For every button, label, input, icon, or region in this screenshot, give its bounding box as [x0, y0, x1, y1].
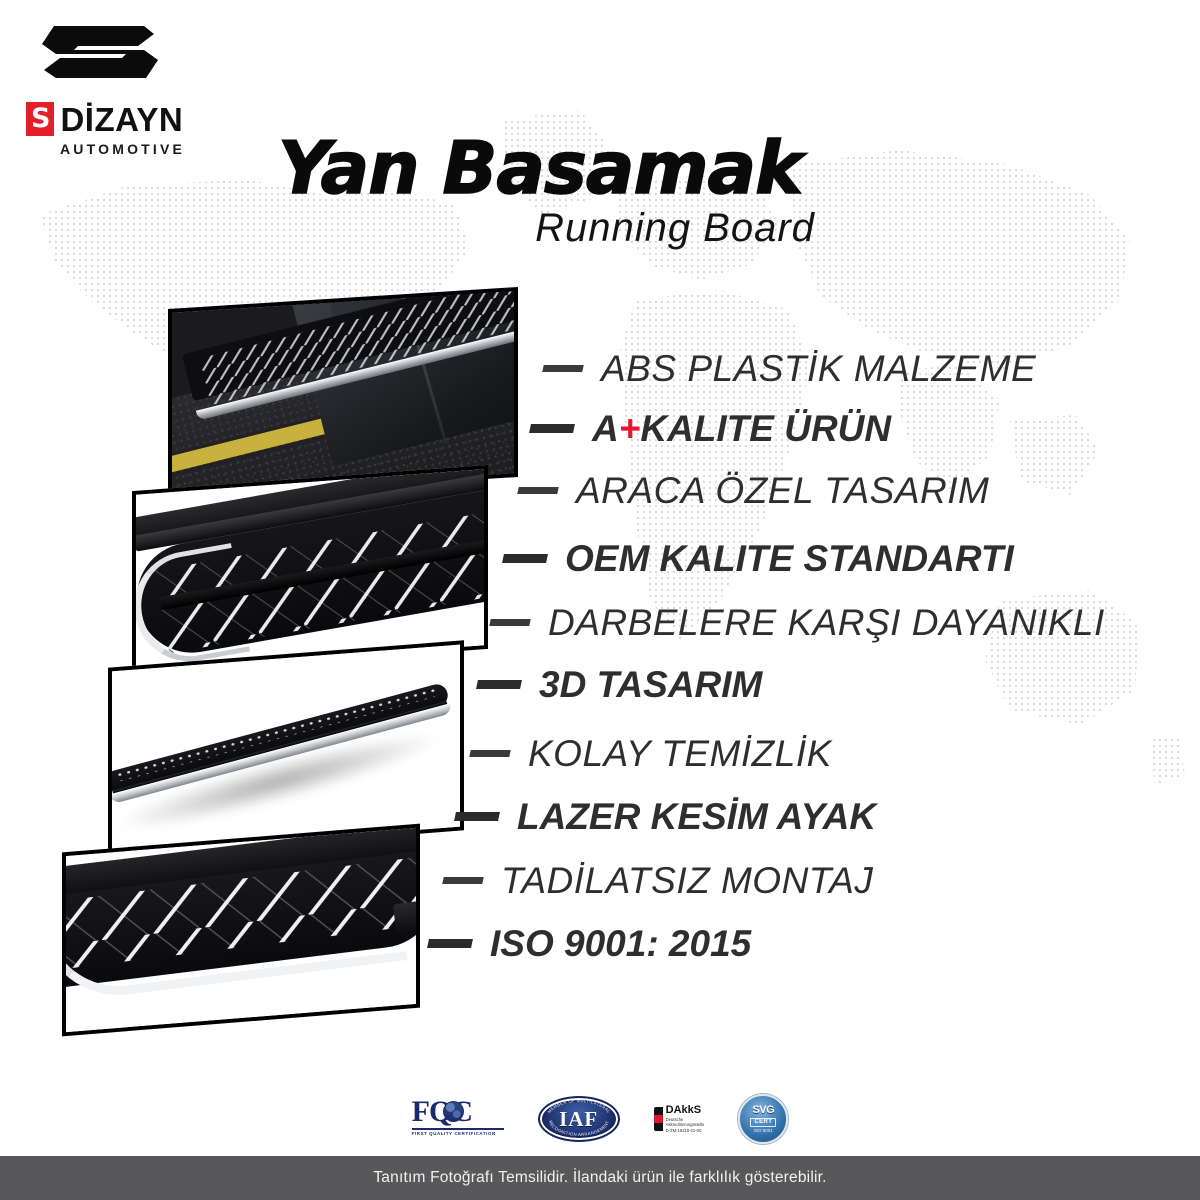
german-flag-icon [654, 1107, 663, 1131]
disclaimer-text: Tanıtım Fotoğrafı Temsilidir. İlandaki ü… [373, 1169, 826, 1187]
bullet-dash-icon [517, 487, 558, 494]
tuv-cert-label: CERT [750, 1118, 776, 1127]
tuv-standard-label: ISO 9001 [754, 1129, 773, 1134]
fqc-logo: FQC FIRST QUALITY CERTIFICATION [412, 1097, 504, 1141]
feature-label: LAZER KESİM AYAK [517, 798, 876, 835]
feature-plus-highlight: + [619, 410, 641, 447]
bullet-dash-icon [476, 680, 522, 689]
feature-label: 3D TASARIM [539, 666, 762, 703]
dakks-logo: DAkkS Deutsche Akkreditierungsstelle D-Z… [654, 1104, 705, 1133]
iaf-arc-text: MEMBER OF MULTILATERAL RECOGNITION ARRAN… [540, 1098, 618, 1140]
cert-badge-tuv: SVG CERT ISO 9001 [738, 1096, 788, 1142]
bullet-dash-icon [454, 812, 500, 821]
cert-badge-dakks: DAkkS Deutsche Akkreditierungsstelle D-Z… [654, 1096, 705, 1142]
feature-item-8: LAZER KESİM AYAK [455, 798, 876, 835]
globe-icon [443, 1101, 464, 1122]
feature-item-5: DARBELERE KARŞI DAYANIKLI [490, 604, 1105, 641]
bullet-dash-icon [442, 877, 483, 884]
feature-item-4: OEM KALITE STANDARTI [503, 540, 1014, 577]
bullet-dash-icon [469, 750, 510, 757]
feature-label: KOLAY TEMİZLİK [528, 735, 832, 772]
feature-label: ISO 9001: 2015 [490, 925, 751, 962]
svg-text:RECOGNITION ARRANGEMENT: RECOGNITION ARRANGEMENT [548, 1120, 610, 1137]
feature-item-9: TADİLATSIZ MONTAJ [443, 862, 873, 899]
feature-item-2: A+KALITE ÜRÜN [530, 410, 891, 447]
cert-badge-iaf: MEMBER OF MULTILATERAL RECOGNITION ARRAN… [538, 1096, 620, 1142]
fqc-divider [412, 1128, 504, 1130]
feature-list: ABS PLASTİK MALZEME A+KALITE ÜRÜN ARACA … [0, 0, 1200, 1010]
bullet-dash-icon [529, 424, 575, 433]
feature-label: DARBELERE KARŞI DAYANIKLI [548, 604, 1105, 641]
feature-label-prefix: A [592, 410, 619, 447]
feature-item-1: ABS PLASTİK MALZEME [543, 350, 1036, 387]
tuv-top-label: SVG [752, 1105, 774, 1116]
feature-label: OEM KALITE STANDARTI [565, 540, 1014, 577]
cert-badge-fqc: FQC FIRST QUALITY CERTIFICATION [412, 1096, 504, 1142]
feature-label: TADİLATSIZ MONTAJ [501, 862, 873, 899]
dakks-name: DAkkS [666, 1104, 705, 1116]
svg-text:MEMBER OF MULTILATERAL: MEMBER OF MULTILATERAL [546, 1098, 611, 1114]
promo-banner: S DİZAYN AUTOMOTIVE Yan Basamak Running … [0, 0, 1200, 1200]
feature-label: ABS PLASTİK MALZEME [601, 350, 1036, 387]
tuv-cert-seal: SVG CERT ISO 9001 [738, 1094, 788, 1144]
bullet-dash-icon [427, 939, 473, 948]
bullet-dash-icon [542, 365, 583, 372]
bullet-dash-icon [502, 554, 548, 563]
feature-label: ARACA ÖZEL TASARIM [576, 472, 989, 509]
feature-item-6: 3D TASARIM [477, 666, 762, 703]
iaf-logo: MEMBER OF MULTILATERAL RECOGNITION ARRAN… [538, 1096, 620, 1142]
bullet-dash-icon [489, 619, 530, 626]
dakks-text-block: DAkkS Deutsche Akkreditierungsstelle D-Z… [666, 1104, 705, 1133]
feature-label-suffix: KALITE ÜRÜN [640, 410, 891, 447]
footer-disclaimer-bar: Tanıtım Fotoğrafı Temsilidir. İlandaki ü… [0, 1156, 1200, 1200]
feature-item-3: ARACA ÖZEL TASARIM [518, 472, 989, 509]
fqc-subtitle: FIRST QUALITY CERTIFICATION [412, 1131, 504, 1136]
certification-badges: FQC FIRST QUALITY CERTIFICATION MEMBER O… [0, 1088, 1200, 1150]
dakks-line-3: D-ZM-18215-01-00 [666, 1128, 705, 1134]
feature-item-7: KOLAY TEMİZLİK [470, 735, 832, 772]
feature-item-10: ISO 9001: 2015 [428, 925, 751, 962]
